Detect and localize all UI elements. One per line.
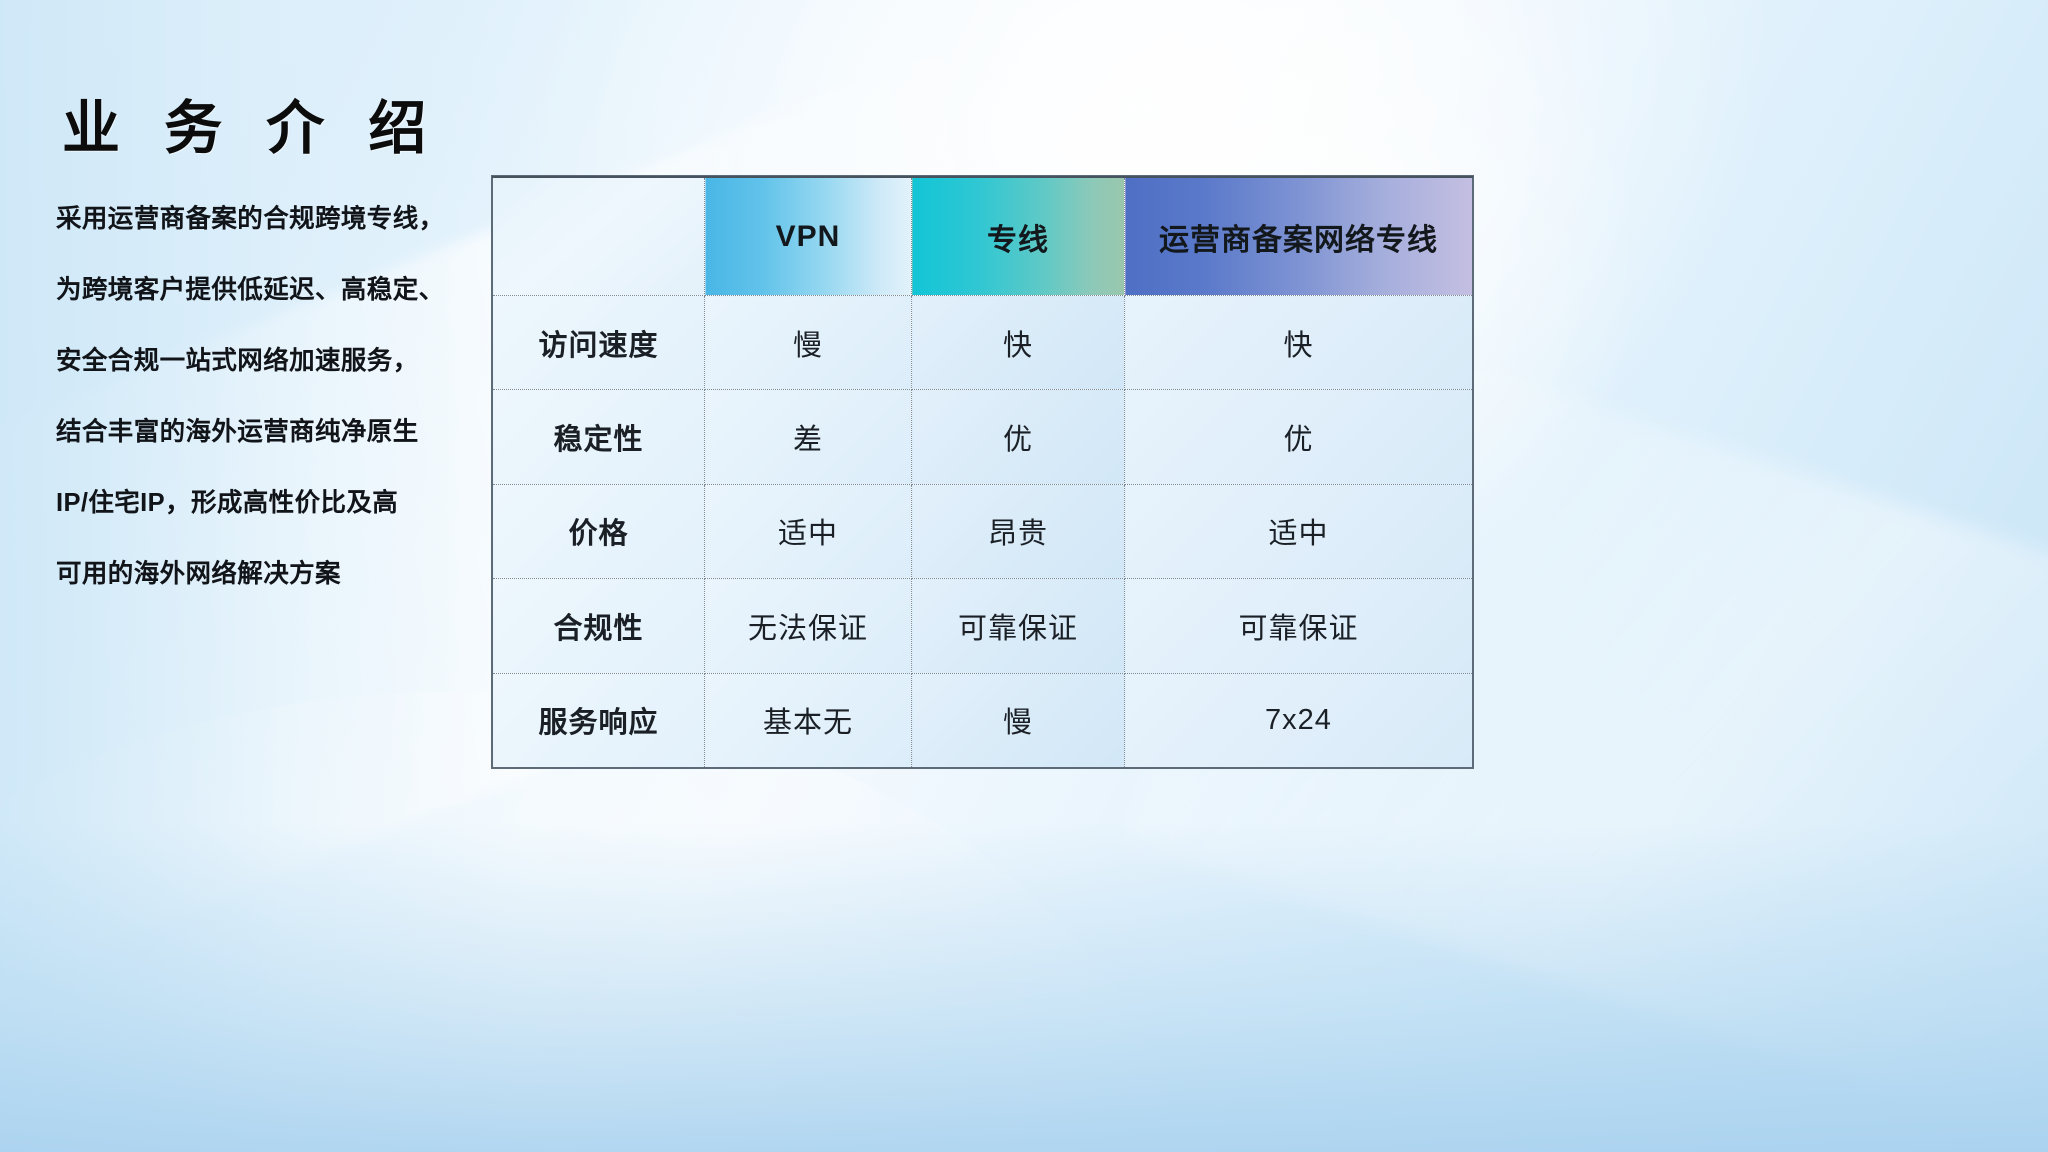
table-row: 稳定性 差 优 优	[493, 390, 1473, 484]
table-header-blank	[493, 177, 705, 296]
cell-carrier: 快	[1125, 296, 1473, 390]
description-line: 结合丰富的海外运营商纯净原生	[56, 397, 486, 468]
cell-vpn: 差	[705, 390, 912, 484]
slide-canvas: 业 务 介 绍 采用运营商备案的合规跨境专线， 为跨境客户提供低延迟、高稳定、 …	[0, 0, 2048, 1152]
table-header-row: VPN 专线 运营商备案网络专线	[493, 177, 1473, 296]
description-line: 可用的海外网络解决方案	[56, 539, 486, 610]
table-row: 价格 适中 昂贵 适中	[493, 484, 1473, 578]
cell-carrier: 适中	[1125, 484, 1473, 578]
cell-vpn: 无法保证	[705, 579, 912, 673]
table-header-carrier: 运营商备案网络专线	[1125, 177, 1473, 296]
description-line: 安全合规一站式网络加速服务，	[56, 326, 486, 397]
cell-line: 优	[912, 390, 1125, 484]
cell-carrier: 优	[1125, 390, 1473, 484]
table-row: 服务响应 基本无 慢 7x24	[493, 673, 1473, 767]
cell-line: 昂贵	[912, 484, 1125, 578]
cell-line: 慢	[912, 673, 1125, 767]
cell-vpn: 基本无	[705, 673, 912, 767]
cell-line: 可靠保证	[912, 579, 1125, 673]
row-label: 服务响应	[493, 673, 705, 767]
row-label: 价格	[493, 484, 705, 578]
table-header-line: 专线	[912, 177, 1125, 296]
row-label: 稳定性	[493, 390, 705, 484]
cell-carrier: 可靠保证	[1125, 579, 1473, 673]
description-paragraph: 采用运营商备案的合规跨境专线， 为跨境客户提供低延迟、高稳定、 安全合规一站式网…	[56, 184, 486, 610]
row-label: 访问速度	[493, 296, 705, 390]
cell-vpn: 适中	[705, 484, 912, 578]
comparison-table-container: VPN 专线 运营商备案网络专线 访问速度 慢 快 快 稳定性 差 优 优	[492, 176, 1472, 760]
table-row: 合规性 无法保证 可靠保证 可靠保证	[493, 579, 1473, 673]
cell-carrier: 7x24	[1125, 673, 1473, 767]
background-bottom-fade	[0, 822, 2048, 1152]
table-row: 访问速度 慢 快 快	[493, 296, 1473, 390]
description-line: 为跨境客户提供低延迟、高稳定、	[56, 255, 486, 326]
table-header-vpn: VPN	[705, 177, 912, 296]
comparison-table: VPN 专线 运营商备案网络专线 访问速度 慢 快 快 稳定性 差 优 优	[492, 176, 1473, 768]
row-label: 合规性	[493, 579, 705, 673]
cell-line: 快	[912, 296, 1125, 390]
description-line: IP/住宅IP，形成高性价比及高	[56, 468, 486, 539]
description-line: 采用运营商备案的合规跨境专线，	[56, 184, 486, 255]
cell-vpn: 慢	[705, 296, 912, 390]
page-title: 业 务 介 绍	[62, 93, 440, 166]
